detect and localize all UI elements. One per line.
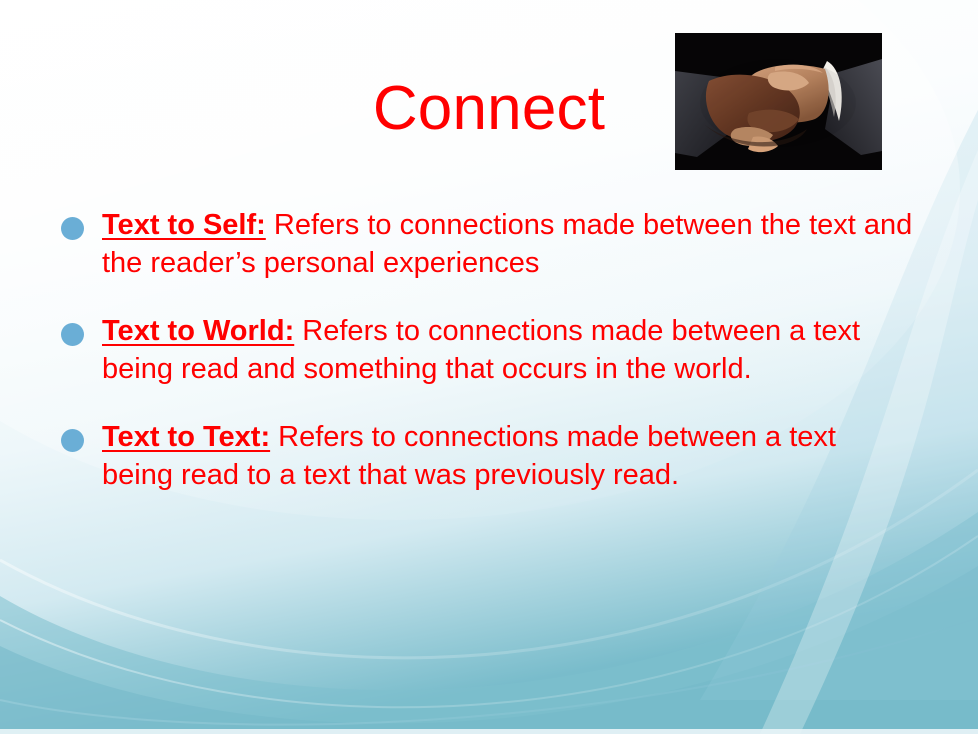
bullet-text: Text to Text: Refers to connections made… <box>102 418 908 494</box>
bullet-dot-icon <box>61 323 84 346</box>
bullet-lead-label: Text to Text: <box>102 421 270 453</box>
bullet-text: Text to Self: Refers to connections made… <box>102 206 936 282</box>
bullet-lead-label: Text to Self: <box>102 209 266 241</box>
bullet-text: Text to World: Refers to connections mad… <box>102 312 936 388</box>
bullet-lead-label: Text to World: <box>102 315 294 347</box>
bullet-dot-icon <box>61 429 84 452</box>
slide: Connect <box>0 0 978 734</box>
bullet-list: Text to Self: Refers to connections made… <box>46 206 936 494</box>
list-item: Text to World: Refers to connections mad… <box>46 312 936 388</box>
handshake-photo <box>675 33 882 170</box>
bullet-dot-icon <box>61 217 84 240</box>
list-item: Text to Text: Refers to connections made… <box>46 418 936 494</box>
list-item: Text to Self: Refers to connections made… <box>46 206 936 282</box>
